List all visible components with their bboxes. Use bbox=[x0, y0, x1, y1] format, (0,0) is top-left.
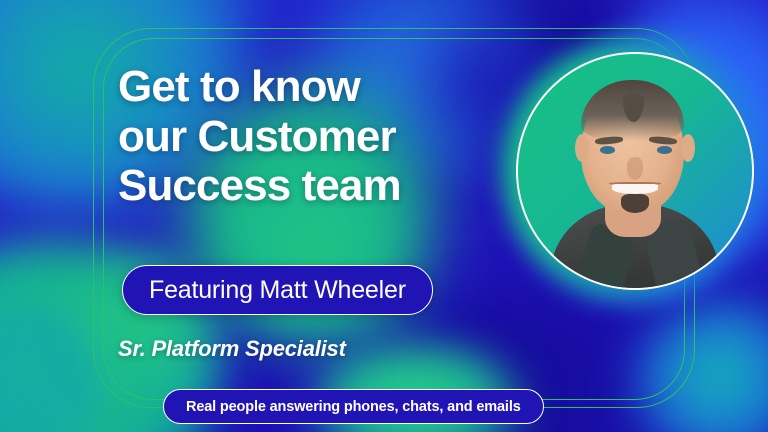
headline-line-3: Success team bbox=[118, 161, 518, 211]
featuring-badge-label: Featuring Matt Wheeler bbox=[149, 276, 406, 305]
tagline-badge: Real people answering phones, chats, and… bbox=[163, 389, 544, 424]
role-subtitle: Sr. Platform Specialist bbox=[118, 336, 346, 362]
promo-banner: Get to know our Customer Success team Fe… bbox=[0, 0, 768, 432]
tagline-badge-label: Real people answering phones, chats, and… bbox=[186, 399, 521, 415]
avatar bbox=[516, 52, 754, 290]
headline-line-2: our Customer bbox=[118, 112, 518, 162]
featuring-badge: Featuring Matt Wheeler bbox=[122, 265, 433, 315]
headline-line-1: Get to know bbox=[118, 62, 518, 112]
avatar-goatee bbox=[621, 194, 649, 213]
background-blob-green-pill bbox=[60, 240, 240, 390]
avatar-ear-right bbox=[681, 134, 695, 162]
page-title: Get to know our Customer Success team bbox=[118, 62, 518, 211]
avatar-circle bbox=[516, 52, 754, 290]
